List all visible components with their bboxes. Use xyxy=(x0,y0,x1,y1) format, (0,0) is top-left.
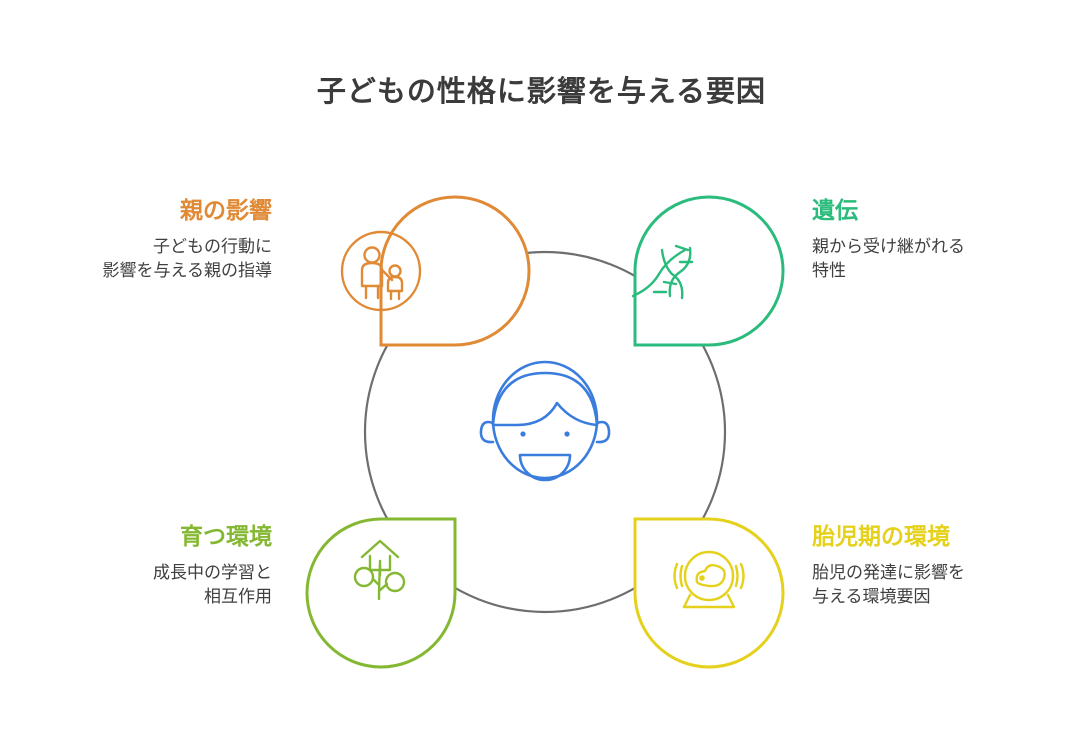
desc-line: 与える環境要因 xyxy=(812,585,1082,610)
node-genetics[interactable] xyxy=(633,197,783,345)
node-heading-upbringing: 育つ環境 xyxy=(2,522,272,551)
node-text-parenting: 親の影響 子どもの行動に 影響を与える親の指導 xyxy=(2,196,272,284)
node-parenting[interactable] xyxy=(342,197,529,345)
node-genetics-teardrop xyxy=(635,197,783,345)
desc-line: 胎児の発達に影響を xyxy=(812,561,1082,586)
desc-line: 相互作用 xyxy=(2,585,272,610)
desc-line: 成長中の学習と xyxy=(2,561,272,586)
node-parenting-teardrop xyxy=(381,197,529,345)
desc-line: 影響を与える親の指導 xyxy=(2,259,272,284)
node-prenatal-teardrop xyxy=(635,519,783,667)
node-text-genetics: 遺伝 親から受け継がれる 特性 xyxy=(812,196,1082,284)
node-heading-prenatal: 胎児期の環境 xyxy=(812,522,1082,551)
node-desc-prenatal: 胎児の発達に影響を 与える環境要因 xyxy=(812,561,1082,610)
desc-line: 子どもの行動に xyxy=(2,235,272,260)
node-text-upbringing: 育つ環境 成長中の学習と 相互作用 xyxy=(2,522,272,610)
node-desc-upbringing: 成長中の学習と 相互作用 xyxy=(2,561,272,610)
page-title: 子どもの性格に影響を与える要因 xyxy=(0,68,1083,110)
node-desc-genetics: 親から受け継がれる 特性 xyxy=(812,235,1082,284)
node-text-prenatal: 胎児期の環境 胎児の発達に影響を 与える環境要因 xyxy=(812,522,1082,610)
node-upbringing[interactable] xyxy=(307,519,455,667)
infographic-canvas: 子どもの性格に影響を与える要因 xyxy=(0,0,1083,748)
desc-line: 親から受け継がれる xyxy=(812,235,1082,260)
node-heading-genetics: 遺伝 xyxy=(812,196,1082,225)
node-prenatal[interactable] xyxy=(635,519,783,667)
factors-diagram xyxy=(290,170,800,690)
desc-line: 特性 xyxy=(812,259,1082,284)
node-desc-parenting: 子どもの行動に 影響を与える親の指導 xyxy=(2,235,272,284)
node-heading-parenting: 親の影響 xyxy=(2,196,272,225)
child-face-icon xyxy=(481,362,609,480)
